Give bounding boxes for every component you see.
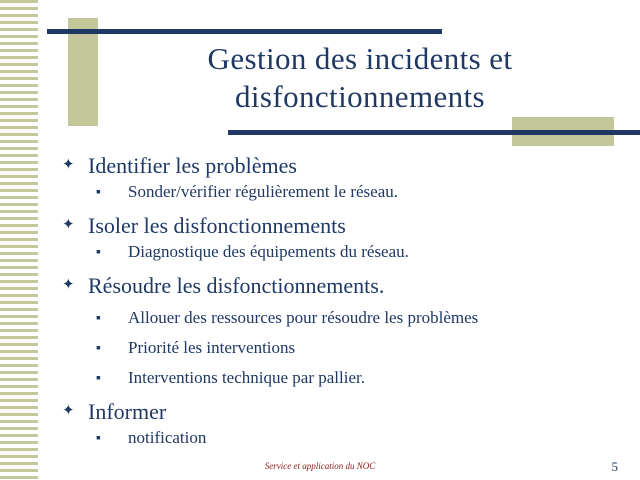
list-item-label: Diagnostique des équipements du réseau. <box>128 242 409 261</box>
square-bullet-icon: ▪ <box>96 308 101 330</box>
title-rule-bottom <box>228 130 640 135</box>
title-line-2: disfonctionnements <box>110 78 610 116</box>
slide: Gestion des incidents et disfonctionneme… <box>0 0 640 480</box>
square-bullet-icon: ▪ <box>96 182 101 204</box>
square-bullet-icon: ▪ <box>96 242 101 264</box>
list-item: ▪ Diagnostique des équipements du réseau… <box>60 241 630 263</box>
list-item-label: Interventions technique par pallier. <box>128 368 365 387</box>
bullet-list: ✦ Identifier les problèmes ▪ Sonder/véri… <box>60 152 630 450</box>
list-item: ✦ Résoudre les disfonctionnements. <box>60 272 630 299</box>
list-item: ▪ Priorité les interventions <box>60 337 630 359</box>
list-item-label: Identifier les problèmes <box>88 153 297 178</box>
list-item-label: Allouer des ressources pour résoudre les… <box>128 308 478 327</box>
left-striped-band <box>0 0 38 480</box>
list-item: ✦ Informer <box>60 398 630 425</box>
square-bullet-icon: ▪ <box>96 428 101 450</box>
title-rule-top <box>47 29 442 34</box>
list-item-label: Informer <box>88 399 166 424</box>
page-number: 5 <box>612 459 619 475</box>
page-title: Gestion des incidents et disfonctionneme… <box>110 40 610 116</box>
list-item-label: Isoler les disfonctionnements <box>88 213 346 238</box>
list-item-label: Priorité les interventions <box>128 338 295 357</box>
list-item-label: Résoudre les disfonctionnements. <box>88 273 384 298</box>
list-item: ▪ Interventions technique par pallier. <box>60 367 630 389</box>
list-item: ▪ notification <box>60 427 630 449</box>
list-item: ✦ Isoler les disfonctionnements <box>60 212 630 239</box>
list-item: ▪ Allouer des ressources pour résoudre l… <box>60 307 630 329</box>
diamond-bullet-icon: ✦ <box>62 272 75 299</box>
square-bullet-icon: ▪ <box>96 338 101 360</box>
list-item: ✦ Identifier les problèmes <box>60 152 630 179</box>
title-line-1: Gestion des incidents et <box>110 40 610 78</box>
list-item-label: Sonder/vérifier régulièrement le réseau. <box>128 182 398 201</box>
olive-accent-block-top <box>68 18 98 126</box>
left-band-edge <box>38 0 40 480</box>
diamond-bullet-icon: ✦ <box>62 398 75 425</box>
diamond-bullet-icon: ✦ <box>62 212 75 239</box>
slide-footer: Service et application du NOC <box>0 461 640 471</box>
diamond-bullet-icon: ✦ <box>62 152 75 179</box>
list-item: ▪ Sonder/vérifier régulièrement le résea… <box>60 181 630 203</box>
square-bullet-icon: ▪ <box>96 368 101 390</box>
list-item-label: notification <box>128 428 206 447</box>
